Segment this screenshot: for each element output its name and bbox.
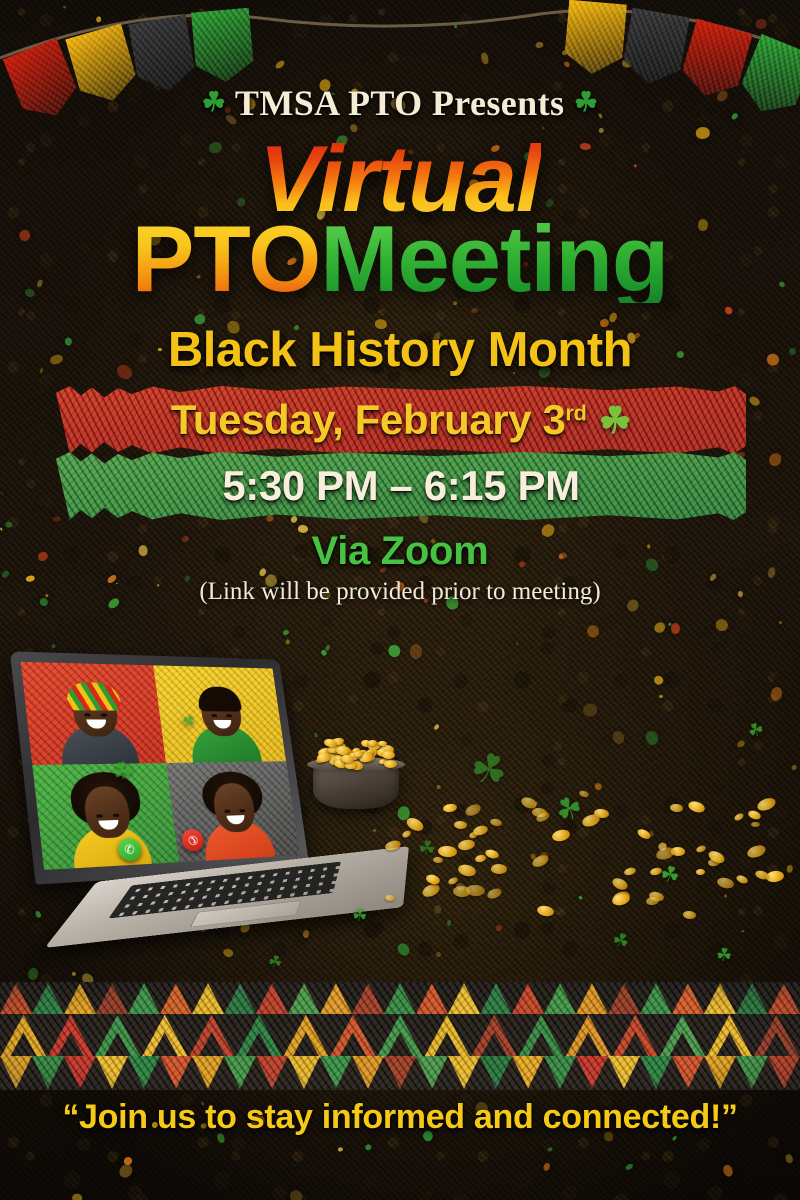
confetti-fleck <box>770 686 782 701</box>
kente-shape <box>768 1056 800 1090</box>
gold-coin <box>610 876 629 892</box>
gold-coin <box>696 869 706 875</box>
gold-coin <box>382 750 395 758</box>
gold-coin <box>442 803 457 813</box>
kente-border-pattern <box>0 982 800 1090</box>
kente-shape <box>576 1056 608 1090</box>
confetti-fleck <box>122 1156 133 1167</box>
avatar-eye-left <box>96 814 103 817</box>
gold-coin <box>437 845 456 858</box>
confetti-fleck <box>741 930 744 933</box>
poster-root: ☘ TMSA PTO Presents ☘ Virtual PTO Meetin… <box>0 0 800 1200</box>
confetti-fleck <box>659 694 664 698</box>
kente-shape <box>416 1056 448 1090</box>
kente-shape <box>704 982 736 1014</box>
kente-shape <box>448 982 480 1014</box>
kente-shape <box>96 982 128 1014</box>
confetti-fleck <box>792 764 798 770</box>
confetti-fleck <box>435 951 441 957</box>
kente-shape <box>188 1012 235 1058</box>
confetti-fleck <box>282 629 289 635</box>
kente-shape <box>736 1056 768 1090</box>
confetti-fleck <box>643 729 660 747</box>
gold-coin <box>453 886 471 897</box>
confetti-fleck <box>543 1162 552 1171</box>
confetti-fleck <box>653 620 667 634</box>
confetti-fleck <box>584 623 601 640</box>
participant-tile-green: ✆ <box>32 763 179 870</box>
kente-shape <box>768 982 800 1014</box>
gold-coin <box>716 877 735 891</box>
presents-text: TMSA PTO Presents <box>235 83 564 123</box>
gold-coin <box>745 843 767 860</box>
gold-coin <box>645 896 659 905</box>
kente-shape <box>512 982 544 1014</box>
date-text: Tuesday, February 3rd <box>171 396 587 444</box>
kente-shape <box>64 1056 96 1090</box>
kente-shape <box>128 982 160 1014</box>
confetti-fleck <box>495 924 502 931</box>
confetti-fleck <box>748 394 762 407</box>
kente-row-triangles-top <box>0 982 800 1014</box>
gold-coin <box>484 848 500 860</box>
bunting-flag <box>620 8 690 89</box>
confetti-fleck <box>611 729 627 746</box>
confetti-fleck <box>364 1143 372 1151</box>
bunting-flag <box>191 8 255 85</box>
gold-coin <box>687 799 707 815</box>
gold-coin <box>491 863 507 873</box>
kente-shape <box>704 1056 736 1090</box>
kente-shape <box>672 982 704 1014</box>
shamrock-icon: ☘ <box>745 718 768 744</box>
clover-icon: ☘ <box>598 399 631 442</box>
gold-coin <box>636 827 652 841</box>
kente-row-triangles-bottom <box>0 1056 800 1090</box>
kente-shape <box>565 1012 612 1058</box>
date-banner: Tuesday, February 3rd ☘ <box>56 386 746 454</box>
avatar-eye-left <box>83 713 90 716</box>
shamrock-icon-right: ☘ <box>574 87 599 117</box>
gold-coin <box>454 821 468 830</box>
avatar-hair <box>196 686 242 711</box>
kente-shape <box>0 1012 47 1058</box>
confetti-fleck <box>437 786 442 790</box>
gold-coin <box>747 810 762 822</box>
confetti-fleck <box>621 57 633 69</box>
confetti-fleck <box>652 675 663 687</box>
kente-shape <box>256 1056 288 1090</box>
avatar-eye-left <box>211 714 217 717</box>
kente-shape <box>288 982 320 1014</box>
confetti-fleck <box>535 40 544 49</box>
gold-coin <box>683 910 697 919</box>
kente-shape <box>320 982 352 1014</box>
kente-shape <box>192 1056 224 1090</box>
kente-shape <box>480 982 512 1014</box>
kente-shape <box>320 1056 352 1090</box>
time-banner-text: 5:30 PM – 6:15 PM <box>56 452 746 520</box>
confetti-fleck <box>454 25 458 29</box>
confetti-fleck <box>447 920 452 926</box>
kente-shape <box>384 982 416 1014</box>
end-call-button[interactable]: ✆ <box>181 829 205 852</box>
gold-coin <box>696 844 707 853</box>
kente-shape <box>608 1056 640 1090</box>
gold-coin <box>670 803 683 812</box>
kente-shape <box>672 1056 704 1090</box>
gold-coin <box>579 790 590 799</box>
gold-coin <box>457 838 475 851</box>
confetti-fleck <box>117 1162 134 1179</box>
kente-shape <box>128 1056 160 1090</box>
gold-coin <box>490 818 504 828</box>
confetti-fleck <box>736 740 746 749</box>
subtitle-black-history-month: Black History Month <box>0 322 800 378</box>
platform-label: Via Zoom <box>0 529 800 574</box>
kente-shape <box>608 982 640 1014</box>
kente-shape <box>612 1012 659 1058</box>
confetti-fleck <box>515 643 518 646</box>
shamrock-icon-left: ☘ <box>202 87 227 117</box>
gold-coin <box>536 904 555 918</box>
kente-shape <box>160 1056 192 1090</box>
confetti-fleck <box>561 49 568 56</box>
kente-shape <box>47 1012 94 1058</box>
date-banner-text: Tuesday, February 3rd ☘ <box>56 386 746 454</box>
kente-shape <box>0 1056 32 1090</box>
gold-coin <box>401 829 412 839</box>
kente-shape <box>512 1056 544 1090</box>
date-ordinal: rd <box>565 400 586 425</box>
kente-shape <box>706 1012 753 1058</box>
confetti-fleck <box>72 1194 82 1200</box>
gold-coin <box>751 822 760 828</box>
kente-shape <box>256 982 288 1014</box>
title-word-pto: PTO <box>132 216 321 302</box>
gold-coin <box>623 866 636 876</box>
gold-coin <box>755 796 776 813</box>
participant-tile-gray: ✆ <box>166 761 300 862</box>
gold-coin <box>735 874 749 886</box>
laptop-illustration: ✆ ✆ <box>11 628 416 998</box>
confetti-fleck <box>670 622 681 635</box>
avatar-headwrap <box>64 681 121 710</box>
kente-shape <box>377 1012 424 1058</box>
kente-shape <box>736 982 768 1014</box>
kente-shape <box>224 1056 256 1090</box>
confetti-fleck <box>785 1154 795 1164</box>
confetti-fleck <box>337 1146 343 1152</box>
confetti-fleck <box>542 127 545 130</box>
confetti-fleck <box>77 56 84 63</box>
confetti-fleck <box>778 621 782 625</box>
confetti-fleck <box>409 643 423 659</box>
kente-shape <box>224 982 256 1014</box>
kente-shape <box>94 1012 141 1058</box>
shamrock-icon: ☘ <box>608 928 632 956</box>
gold-coin <box>384 839 402 853</box>
title-word-meeting: Meeting <box>320 216 668 302</box>
laptop-lid: ✆ ✆ <box>10 651 310 884</box>
presents-line: ☘ TMSA PTO Presents ☘ <box>0 82 800 124</box>
gold-coin <box>384 760 397 769</box>
kente-shape <box>424 1012 471 1058</box>
link-note: (Link will be provided prior to meeting) <box>0 578 800 606</box>
kente-shape <box>659 1012 706 1058</box>
confetti-fleck <box>599 128 604 133</box>
confetti-fleck <box>480 52 489 65</box>
kente-row-chevrons <box>0 1012 800 1058</box>
confetti-fleck <box>275 60 287 70</box>
confetti-fleck <box>547 1146 553 1152</box>
bunting-flag <box>563 0 627 76</box>
gold-coin <box>425 873 441 885</box>
gold-coin <box>486 886 504 900</box>
kente-shape <box>753 1012 800 1058</box>
confetti-fleck <box>37 44 44 52</box>
avatar-eye-right <box>112 814 119 817</box>
kente-shape <box>480 1056 512 1090</box>
gold-coin <box>421 881 442 898</box>
time-text: 5:30 PM – 6:15 PM <box>222 462 579 510</box>
kente-shape <box>96 1056 128 1090</box>
title-line-2: PTO Meeting <box>0 216 800 302</box>
shamrock-icon: ☘ <box>351 905 368 926</box>
phone-icon: ✆ <box>123 842 135 857</box>
kente-shape <box>282 1012 329 1058</box>
confetti-fleck <box>287 1188 304 1200</box>
kente-shape <box>448 1056 480 1090</box>
avatar-eye-right <box>100 713 107 716</box>
kente-shape <box>576 982 608 1014</box>
kente-shape <box>192 982 224 1014</box>
avatar-eye-left <box>224 810 230 813</box>
confetti-fleck <box>62 5 66 9</box>
confetti-fleck <box>581 702 599 719</box>
kente-shape <box>544 982 576 1014</box>
confetti-fleck <box>387 644 402 659</box>
confetti-fleck <box>433 724 440 731</box>
kente-shape <box>416 982 448 1014</box>
participant-tile-red <box>21 662 166 765</box>
gold-coin <box>385 895 395 902</box>
participant-tile-yellow <box>153 665 286 762</box>
date-value: Tuesday, February 3 <box>171 396 566 443</box>
kente-shape <box>288 1056 320 1090</box>
confetti-fleck <box>96 16 101 23</box>
confetti-fleck <box>754 17 768 31</box>
confetti-fleck <box>4 521 12 528</box>
avatar-eye-right <box>239 809 245 812</box>
kente-shape <box>352 1056 384 1090</box>
confetti-fleck <box>786 864 794 873</box>
gold-coin <box>474 854 487 863</box>
kente-shape <box>471 1012 518 1058</box>
kente-shape <box>640 982 672 1014</box>
gold-coin <box>531 853 551 870</box>
kente-shape <box>64 982 96 1014</box>
confetti-fleck <box>768 452 783 467</box>
shamrock-icon: ☘ <box>715 944 732 966</box>
confetti-fleck <box>0 492 3 495</box>
kente-shape <box>32 1056 64 1090</box>
coin-pile <box>316 737 396 769</box>
kente-shape <box>160 982 192 1014</box>
kente-shape <box>141 1012 188 1058</box>
kente-shape <box>640 1056 672 1090</box>
confetti-fleck <box>50 643 56 649</box>
video-call-grid: ✆ ✆ <box>21 662 300 870</box>
gold-coin <box>464 802 483 818</box>
confetti-fleck <box>624 1163 634 1172</box>
confetti-fleck <box>722 1163 734 1177</box>
kente-shape <box>544 1056 576 1090</box>
shamrock-icon: ☘ <box>417 835 438 862</box>
confetti-fleck <box>668 622 672 626</box>
kente-shape <box>384 1056 416 1090</box>
confetti-fleck <box>27 967 40 981</box>
avatar-eye-right <box>226 714 232 717</box>
poster-title: Virtual PTO Meeting <box>0 136 800 303</box>
tagline: “Join us to stay informed and connected!… <box>0 1098 800 1137</box>
gold-coin <box>733 812 744 822</box>
phone-hangup-icon: ✆ <box>184 832 201 849</box>
gold-coin <box>457 863 477 878</box>
gold-coin <box>447 876 458 885</box>
kente-shape <box>0 982 32 1014</box>
kente-shape <box>329 1012 376 1058</box>
confetti-fleck <box>564 60 571 68</box>
confetti-fleck <box>715 619 728 631</box>
kente-shape <box>235 1012 282 1058</box>
time-banner: 5:30 PM – 6:15 PM <box>56 452 746 520</box>
confetti-fleck <box>594 783 602 790</box>
confetti-fleck <box>724 305 735 315</box>
kente-shape <box>518 1012 565 1058</box>
kente-shape <box>32 982 64 1014</box>
kente-shape <box>352 982 384 1014</box>
